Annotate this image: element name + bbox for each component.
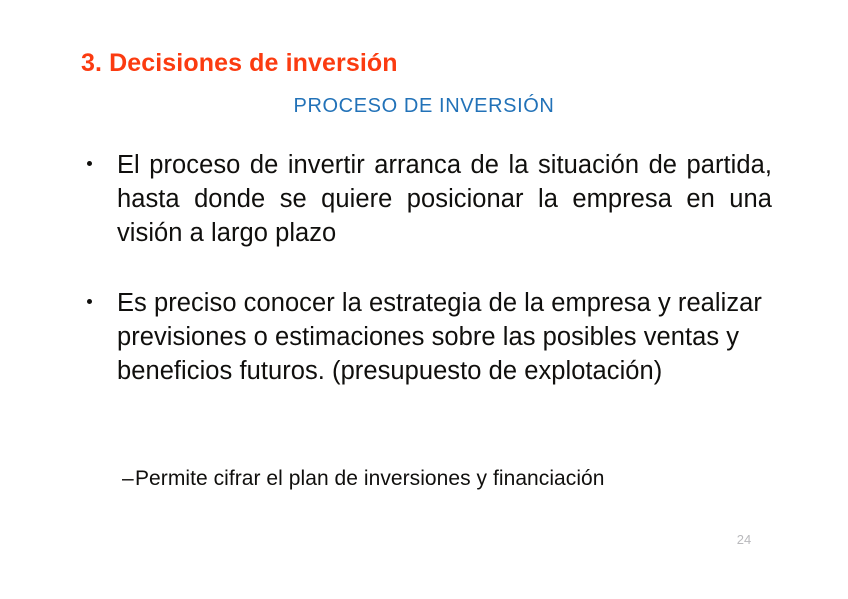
- sub-list-item: –Permite cifrar el plan de inversiones y…: [122, 466, 605, 492]
- page-title: 3. Decisiones de inversión: [81, 50, 398, 78]
- dash-marker-icon: –: [122, 466, 135, 492]
- slide-canvas: 3. Decisiones de inversión PROCESO DE IN…: [0, 0, 848, 599]
- list-item: Es preciso conocer la estrategia de la e…: [82, 286, 772, 388]
- list-item-label: Es preciso conocer la estrategia de la e…: [117, 286, 772, 388]
- list-item-label: El proceso de invertir arranca de la sit…: [117, 148, 772, 250]
- list-item: El proceso de invertir arranca de la sit…: [82, 148, 772, 250]
- bullet-dot-icon: [87, 161, 92, 166]
- bullet-dot-icon: [87, 299, 92, 304]
- body-content: El proceso de invertir arranca de la sit…: [82, 148, 772, 388]
- sub-list-item-label: Permite cifrar el plan de inversiones y …: [135, 467, 605, 490]
- page-number: 24: [729, 533, 759, 546]
- section-subtitle: PROCESO DE INVERSIÓN: [0, 95, 848, 117]
